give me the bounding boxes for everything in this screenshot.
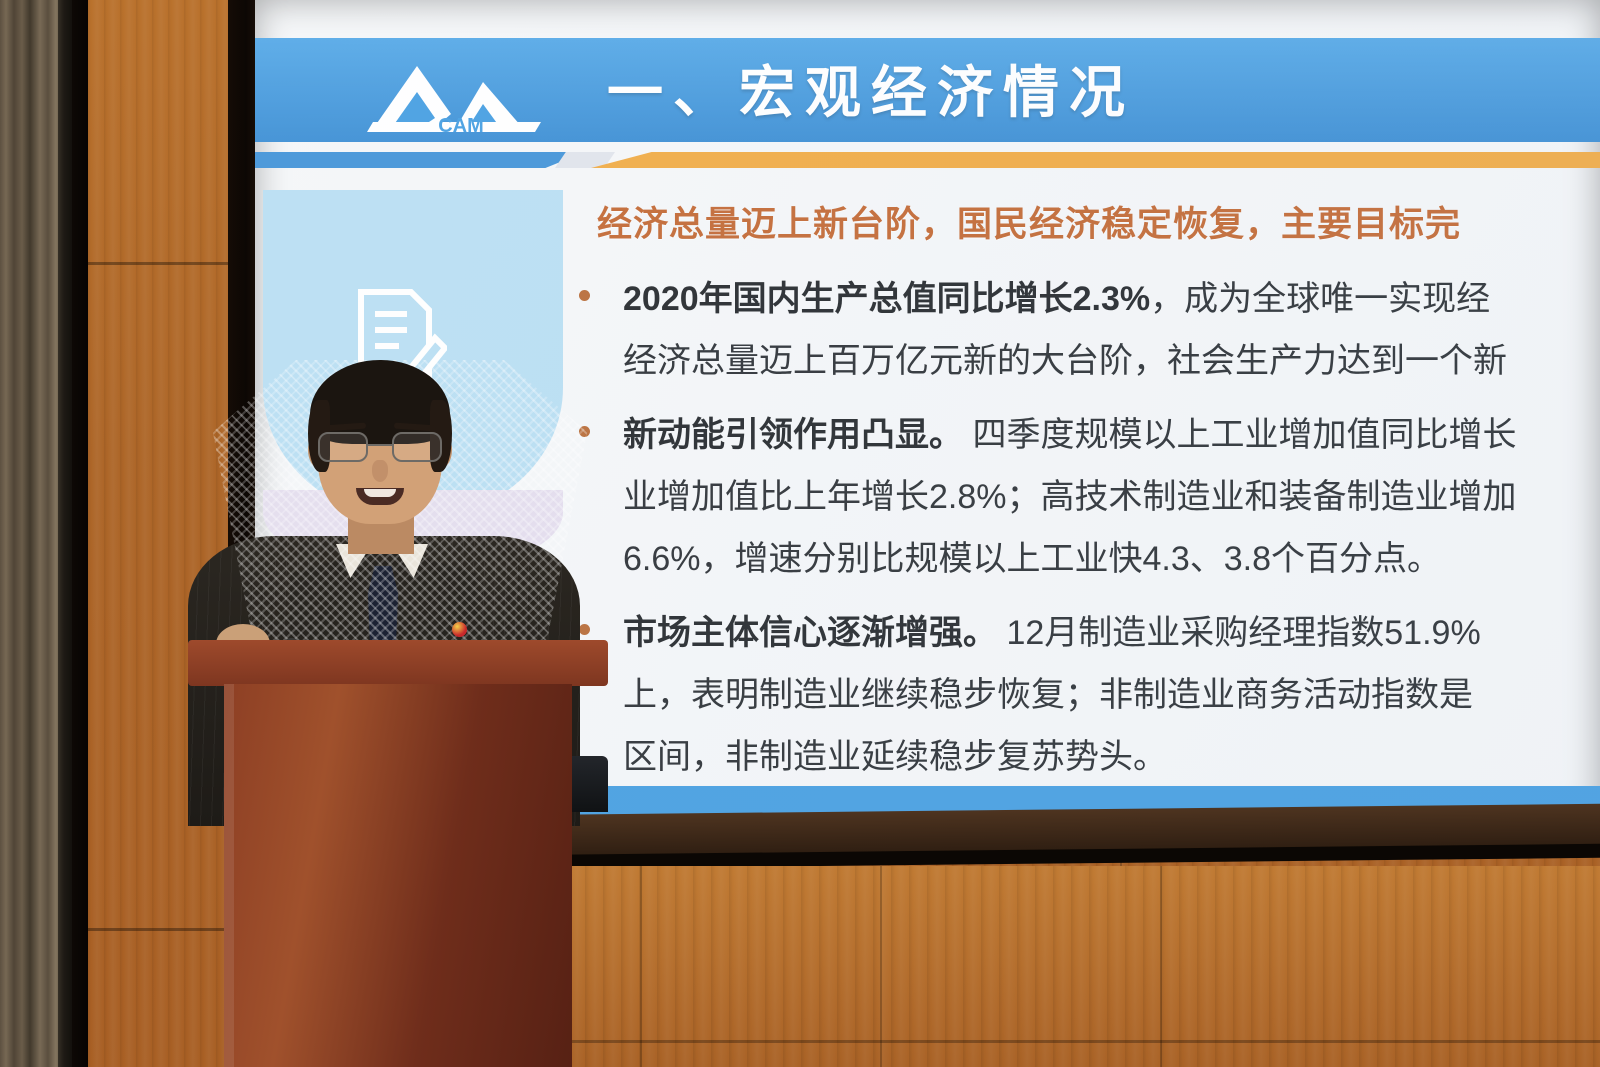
podium-front-panel <box>224 684 572 1067</box>
teeth <box>364 489 396 497</box>
lower-wall-column-seam-3 <box>1160 866 1162 1067</box>
slide-header-band: CAM 一、宏观经济情况 <box>255 38 1600 142</box>
bullet-3-line-1-normal: 12月制造业采购经理指数51.9% <box>997 614 1481 652</box>
glasses-bridge <box>368 444 392 446</box>
bullet-1-line-1-normal: ，成为全球唯一实现经 <box>1150 280 1490 318</box>
bullet-3-line-2-normal: 上，表明制造业继续稳步恢复；非制造业商务活动指数是 <box>623 676 1473 714</box>
bullet-marker-icon <box>579 290 590 301</box>
bullet-2-line-1-bold: 新动能引领作用凸显。 <box>623 416 963 454</box>
lower-wall-column-seam-2 <box>880 866 882 1067</box>
watermark-blue-notch <box>263 190 453 230</box>
cam-logo-text: CAM <box>438 115 484 137</box>
bullet-1-line-2: 经济总量迈上百万亿元新的大台阶，社会生产力达到一个新 <box>555 330 1600 392</box>
bullet-2-line-3: 6.6%，增速分别比规模以上工业快4.3、3.8个百分点。 <box>555 528 1600 590</box>
bullet-3-line-3: 区间，非制造业延续稳步复苏势头。 <box>555 726 1600 788</box>
bullet-item-2: 新动能引领作用凸显。 四季度规模以上工业增加值同比增长 业增加值比上年增长2.8… <box>555 404 1600 590</box>
bullet-3-line-3-normal: 区间，非制造业延续稳步复苏势头。 <box>623 738 1167 776</box>
header-accent-rule <box>255 152 1600 168</box>
accent-segment-orange <box>591 152 1600 168</box>
lens-left <box>318 432 368 462</box>
bullet-2-line-3-normal: 6.6%，增速分别比规模以上工业快4.3、3.8个百分点。 <box>623 540 1441 578</box>
slide-bullet-list: 2020年国内生产总值同比增长2.3%，成为全球唯一实现经 经济总量迈上百万亿元… <box>555 268 1600 800</box>
bullet-2-line-1-normal: 四季度规模以上工业增加值同比增长 <box>963 416 1516 454</box>
bullet-item-3: 市场主体信心逐渐增强。 12月制造业采购经理指数51.9% 上，表明制造业继续稳… <box>555 602 1600 788</box>
bullet-3-line-2: 上，表明制造业继续稳步恢复；非制造业商务活动指数是 <box>555 664 1600 726</box>
speaking-podium <box>188 640 608 1067</box>
bullet-1-line-2-normal: 经济总量迈上百万亿元新的大台阶，社会生产力达到一个新 <box>623 342 1507 380</box>
bullet-item-1: 2020年国内生产总值同比增长2.3%，成为全球唯一实现经 经济总量迈上百万亿元… <box>555 268 1600 392</box>
eyeglasses-icon <box>316 432 444 462</box>
lens-right <box>392 432 442 462</box>
conference-hall-photo: CAM 一、宏观经济情况 <box>0 0 1600 1067</box>
nose <box>372 460 388 482</box>
lapel-pin-icon <box>452 622 467 637</box>
bullet-1-line-1: 2020年国内生产总值同比增长2.3%，成为全球唯一实现经 <box>555 268 1600 330</box>
curtain-shadow <box>58 0 92 1067</box>
slide-title: 一、宏观经济情况 <box>607 48 1135 129</box>
slide-subtitle: 经济总量迈上新台阶，国民经济稳定恢复，主要目标完 <box>597 196 1461 247</box>
bullet-3-line-1-bold: 市场主体信心逐渐增强。 <box>623 614 997 652</box>
lower-wall-column-seam-1 <box>640 866 642 1067</box>
podium-top-surface <box>188 640 608 686</box>
bullet-1-line-1-bold: 2020年国内生产总值同比增长2.3% <box>623 280 1150 318</box>
podium-edge-highlight <box>224 684 234 1067</box>
bullet-2-line-2-normal: 业增加值比上年增长2.8%；高技术制造业和装备制造业增加 <box>623 478 1517 516</box>
bullet-2-line-2: 业增加值比上年增长2.8%；高技术制造业和装备制造业增加 <box>555 466 1600 528</box>
accent-segment-blue <box>255 152 585 168</box>
bullet-3-line-1: 市场主体信心逐渐增强。 12月制造业采购经理指数51.9% <box>555 602 1600 664</box>
bullet-2-line-1: 新动能引领作用凸显。 四季度规模以上工业增加值同比增长 <box>555 404 1600 466</box>
cam-mountain-logo: CAM <box>365 52 555 138</box>
